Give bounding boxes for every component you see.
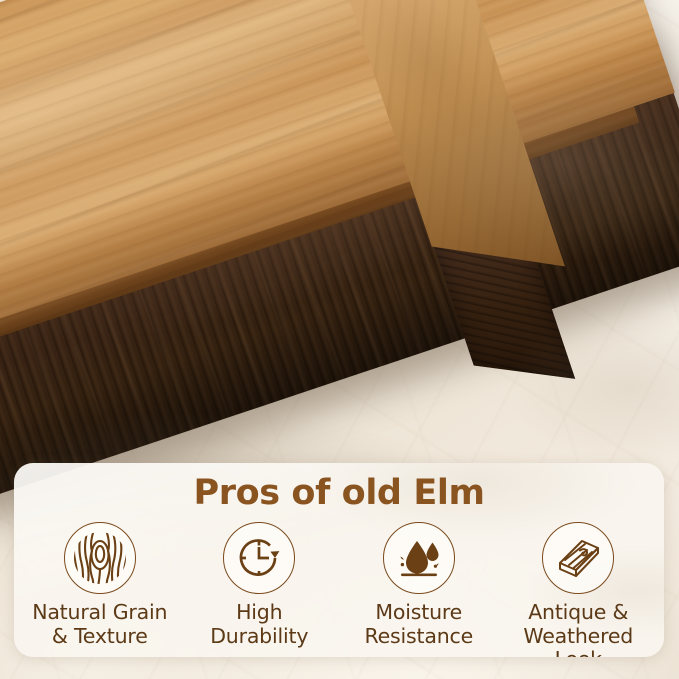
pros-card: Pros of old Elm — [14, 463, 664, 657]
feature-natural-grain: Natural Grain & Texture — [20, 522, 180, 657]
feature-label: High Durability — [210, 601, 308, 649]
feature-list: Natural Grain & Texture — [14, 522, 664, 657]
feature-label: Moisture Resistance — [365, 601, 473, 649]
page-title: Pros of old Elm — [14, 463, 664, 513]
feature-antique-weathered: Antique & Weathered Look — [499, 522, 659, 657]
feature-moisture-resistance: Moisture Resistance — [339, 522, 499, 657]
water-droplet-repel-icon — [383, 522, 455, 594]
feature-high-durability: High Durability — [180, 522, 340, 657]
clock-refresh-icon — [223, 522, 295, 594]
feature-label: Antique & Weathered Look — [499, 601, 659, 657]
wood-grain-icon — [64, 522, 136, 594]
wood-plank-icon — [542, 522, 614, 594]
product-infographic: Pros of old Elm — [0, 0, 679, 679]
feature-label: Natural Grain & Texture — [32, 601, 167, 649]
